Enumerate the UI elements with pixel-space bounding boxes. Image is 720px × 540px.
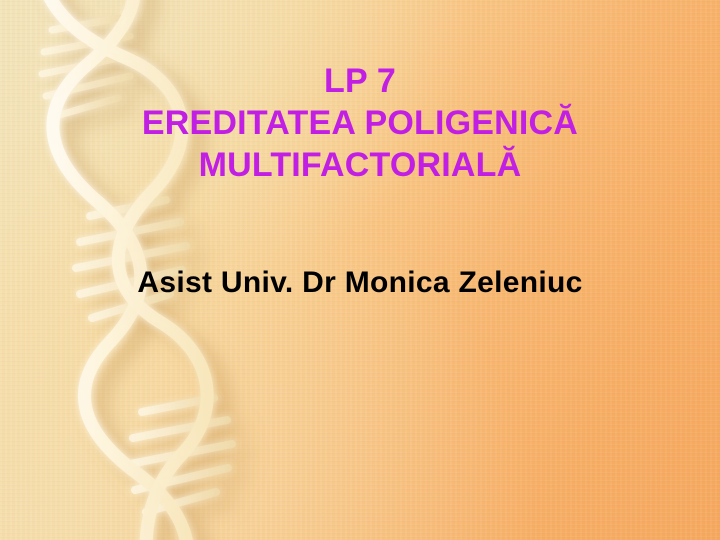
slide-subtitle: Asist Univ. Dr Monica Zeleniuc	[0, 265, 720, 301]
author-name: Asist Univ. Dr Monica Zeleniuc	[0, 265, 720, 301]
slide-title: LP 7 EREDITATEA POLIGENICĂ MULTIFACTORIA…	[0, 60, 720, 186]
title-line-3: MULTIFACTORIALĂ	[0, 144, 720, 186]
title-line-2: EREDITATEA POLIGENICĂ	[0, 102, 720, 144]
title-line-1: LP 7	[0, 60, 720, 102]
presentation-slide: LP 7 EREDITATEA POLIGENICĂ MULTIFACTORIA…	[0, 0, 720, 540]
